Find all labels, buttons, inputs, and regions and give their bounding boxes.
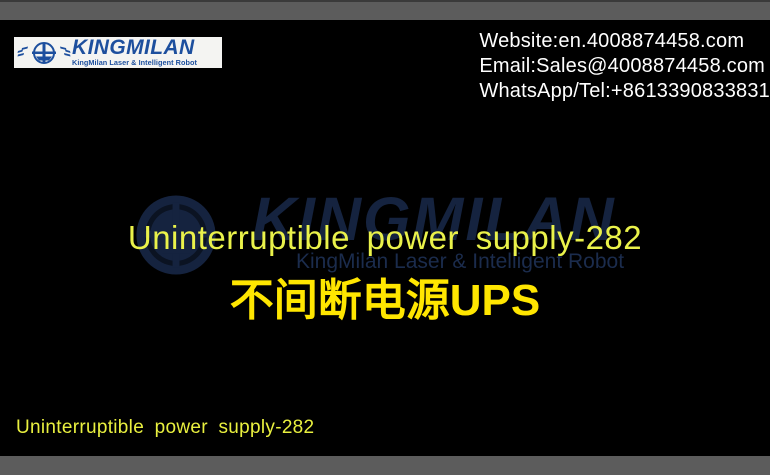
brand-logo: KINGMILAN KingMilan Laser & Intelligent … (14, 37, 222, 68)
contact-email: Email:Sales@4008874458.com (479, 54, 770, 79)
logo-tagline: KingMilan Laser & Intelligent Robot (72, 59, 197, 66)
product-title-english: Uninterruptible power supply-282 (0, 219, 770, 257)
video-frame: KINGMILAN KingMilan Laser & Intelligent … (0, 0, 770, 475)
contact-website: Website:en.4008874458.com (479, 29, 770, 54)
logo-wordmark: KINGMILAN (72, 38, 197, 58)
letterbox-bar-bottom (0, 456, 770, 475)
product-title-chinese: 不间断电源UPS (0, 276, 770, 327)
contact-whatsapp-tel: WhatsApp/Tel:+8613390833831 (479, 79, 770, 104)
bottom-caption: Uninterruptible power supply-282 (16, 417, 314, 439)
kingmilan-emblem-icon (17, 40, 71, 66)
letterbox-bar-top (0, 2, 770, 20)
contact-info-block: Website:en.4008874458.com Email:Sales@40… (479, 29, 770, 104)
